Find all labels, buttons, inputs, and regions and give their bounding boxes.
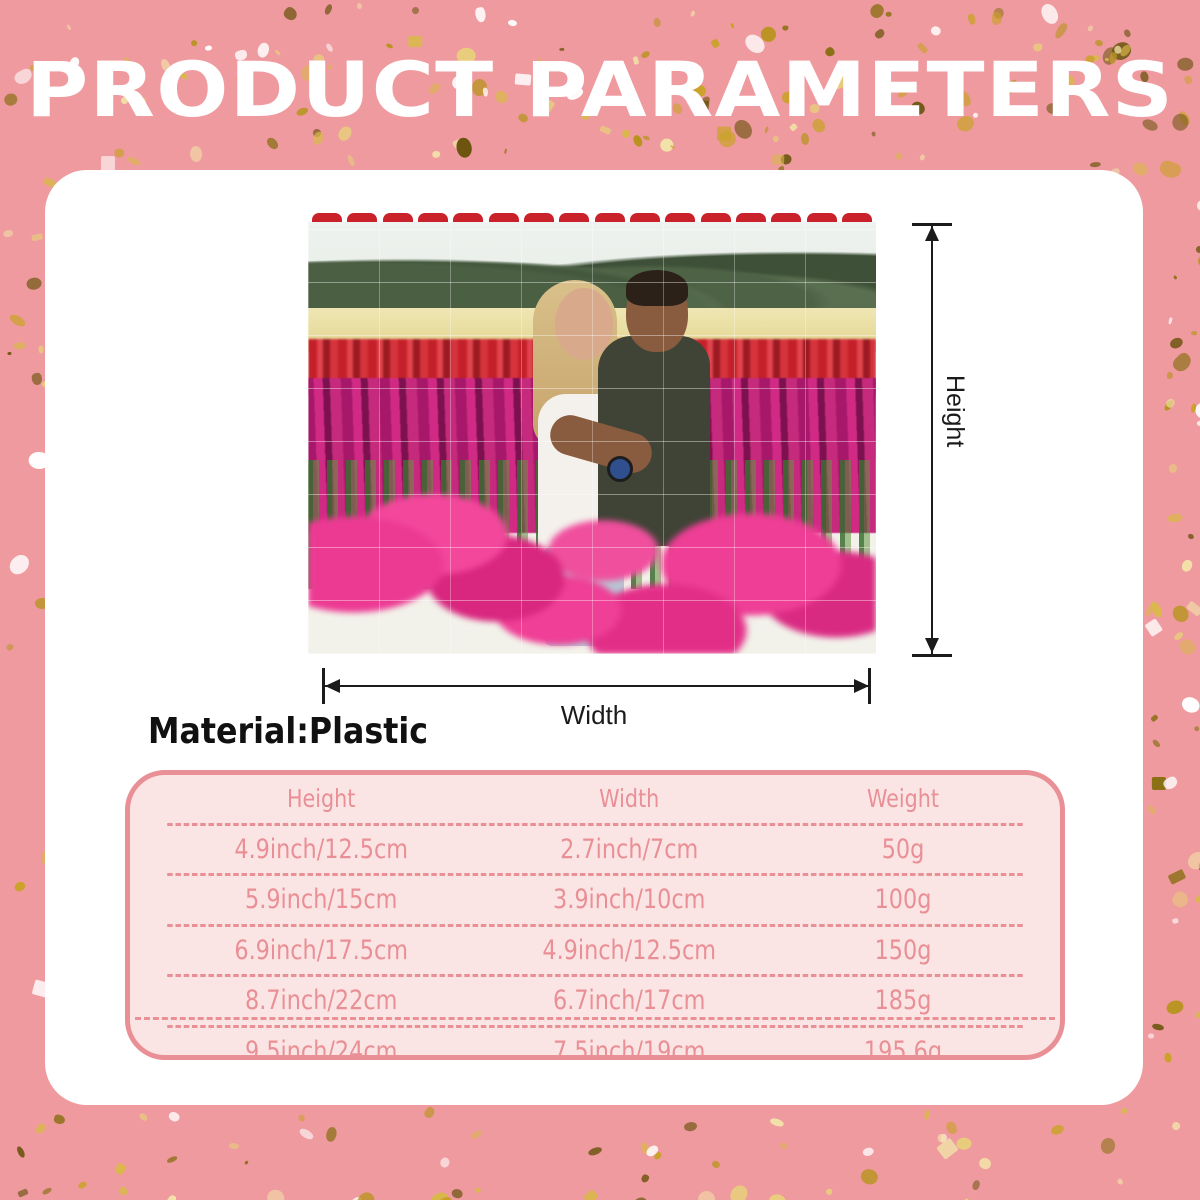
arrow-down-icon [925, 638, 939, 653]
confetti-flake [767, 1192, 788, 1200]
confetti-flake [17, 1188, 29, 1197]
table-cell: 195.6g [783, 1036, 1023, 1060]
confetti-flake [645, 1143, 661, 1158]
confetti-flake [1173, 918, 1180, 924]
confetti-flake [1117, 1179, 1124, 1186]
confetti-flake [923, 1109, 930, 1120]
confetti-flake [801, 133, 810, 146]
confetti-flake [1161, 775, 1179, 791]
confetti-flake [504, 149, 507, 154]
content-card: Height Width Material:Plastic HeightWidt… [45, 170, 1143, 1105]
confetti-flake [966, 13, 976, 26]
confetti-flake [862, 1147, 874, 1157]
confetti-flake [1049, 1123, 1064, 1136]
confetti-flake [772, 135, 779, 142]
confetti-flake [508, 20, 518, 27]
confetti-flake [243, 1160, 248, 1165]
confetti-flake [1164, 1052, 1173, 1063]
confetti-flake [640, 1173, 650, 1184]
height-dimension-line [931, 225, 933, 657]
table-cell: 8.7inch/22cm [167, 985, 475, 1016]
confetti-flake [653, 17, 661, 27]
confetti-flake [38, 345, 43, 353]
confetti-flake [977, 1156, 993, 1172]
confetti-flake [936, 1138, 958, 1160]
confetti-flake [778, 1141, 788, 1151]
confetti-flake [163, 1194, 178, 1200]
confetti-flake [628, 1194, 651, 1200]
confetti-flake [1166, 513, 1182, 523]
confetti-flake [349, 1195, 363, 1200]
product-parameters-infographic: PRODUCT PARAMETERS [0, 0, 1200, 1200]
material-label: Material:Plastic [148, 711, 428, 752]
confetti-flake [772, 155, 784, 166]
confetti-flake [1179, 695, 1200, 716]
photo-image [308, 222, 876, 654]
confetti-flake [1087, 25, 1095, 33]
confetti-flake [1099, 1136, 1116, 1154]
confetti-flake [423, 1105, 437, 1119]
confetti-flake [1165, 397, 1177, 409]
confetti-flake [3, 229, 14, 238]
confetti-flake [66, 24, 71, 31]
confetti-flake [53, 1114, 66, 1125]
confetti-flake [437, 1194, 455, 1200]
confetti-flake [1090, 161, 1101, 167]
arrow-up-icon [925, 226, 939, 241]
product-photo [308, 222, 876, 654]
confetti-flake [1152, 776, 1166, 789]
table-cell: 4.9inch/12.5cm [167, 834, 475, 865]
confetti-flake [13, 880, 27, 894]
confetti-flake [1170, 889, 1190, 909]
page-title: PRODUCT PARAMETERS [0, 52, 1200, 128]
confetti-flake [229, 1143, 239, 1150]
confetti-flake [859, 1167, 880, 1186]
confetti-flake [8, 312, 27, 329]
table-cell: 3.9inch/10cm [475, 884, 783, 915]
confetti-flake [670, 145, 675, 150]
confetti-flake [16, 1146, 26, 1159]
confetti-flake [1168, 335, 1184, 349]
confetti-flake [1169, 463, 1179, 473]
confetti-flake [730, 23, 734, 28]
confetti-flake [711, 1159, 721, 1169]
confetti-flake [265, 1187, 287, 1200]
confetti-flake [1151, 1023, 1164, 1032]
confetti-flake [1169, 602, 1191, 625]
confetti-flake [653, 1151, 663, 1161]
confetti-flake [583, 1189, 599, 1200]
confetti-flake [1163, 398, 1175, 411]
table-row: 6.9inch/17.5cm4.9inch/12.5cm150g [167, 924, 1023, 975]
confetti-flake [1193, 725, 1200, 732]
table-cell: 150g [783, 935, 1023, 966]
confetti-flake [1177, 637, 1198, 658]
confetti-flake [34, 1122, 47, 1136]
confetti-flake [944, 1120, 959, 1136]
confetti-flake [1152, 739, 1162, 749]
confetti-flake [1195, 245, 1200, 253]
confetti-flake [456, 136, 474, 158]
confetti-flake [1196, 253, 1200, 268]
confetti-flake [770, 1117, 786, 1128]
confetti-flake [691, 10, 697, 17]
confetti-flake [758, 24, 779, 45]
confetti-flake [114, 1162, 127, 1175]
confetti-flake [265, 136, 281, 152]
confetti-flake [474, 7, 487, 24]
table-header-cell: Width [475, 784, 783, 813]
table-cell: 185g [783, 985, 1023, 1016]
confetti-flake [325, 1126, 338, 1143]
confetti-flake [429, 1190, 451, 1200]
confetti-flake [992, 7, 1005, 20]
confetti-flake [1191, 331, 1197, 335]
confetti-flake [873, 28, 885, 40]
confetti-flake [14, 342, 26, 350]
confetti-flake [1196, 420, 1200, 427]
confetti-flake [956, 1138, 972, 1151]
table-cell: 100g [783, 884, 1023, 915]
confetti-flake [1184, 849, 1200, 873]
confetti-flake [452, 138, 464, 148]
table-cell: 6.7inch/17cm [475, 985, 783, 1016]
confetti-flake [1145, 604, 1153, 616]
confetti-flake [324, 3, 334, 15]
confetti-flake [119, 1186, 129, 1196]
confetti-flake [660, 138, 674, 151]
confetti-flake [5, 643, 14, 651]
confetti-flake [1148, 599, 1163, 618]
spec-table: HeightWidthWeight4.9inch/12.5cm2.7inch/7… [125, 770, 1065, 1060]
confetti-flake [780, 153, 793, 166]
confetti-flake [1180, 558, 1194, 573]
confetti-flake [727, 1182, 751, 1200]
confetti-flake [166, 1155, 178, 1164]
confetti-flake [1148, 1034, 1154, 1039]
table-row: 9.5inch/24cm7.5inch/19cm195.6g [167, 1025, 1023, 1061]
photo-foreground-flowers [308, 455, 876, 654]
confetti-flake [1170, 1120, 1181, 1132]
confetti-flake [7, 352, 12, 356]
confetti-flake [440, 1156, 452, 1168]
confetti-flake [167, 1110, 181, 1122]
table-cell: 9.5inch/24cm [167, 1036, 475, 1060]
confetti-flake [826, 1189, 832, 1195]
confetti-flake [991, 12, 1002, 26]
confetti-flake [1145, 619, 1163, 637]
confetti-flake [695, 1188, 717, 1200]
confetti-flake [868, 2, 886, 21]
confetti-flake [1187, 532, 1194, 539]
table-row: 4.9inch/12.5cm2.7inch/7cm50g [167, 823, 1023, 874]
confetti-flake [782, 25, 788, 30]
height-tick-bottom [912, 654, 952, 657]
confetti-flake [1038, 1, 1061, 26]
confetti-flake [683, 1122, 697, 1133]
table-cell: 2.7inch/7cm [475, 834, 783, 865]
confetti-flake [1186, 601, 1200, 617]
confetti-flake [25, 276, 42, 290]
table-cell: 6.9inch/17.5cm [167, 935, 475, 966]
arrow-left-icon [325, 679, 340, 693]
confetti-flake [298, 1126, 315, 1140]
confetti-flake [469, 1129, 483, 1140]
confetti-flake [32, 233, 44, 241]
confetti-flake [1168, 869, 1187, 885]
confetti-flake [1194, 1011, 1200, 1019]
confetti-flake [643, 134, 651, 140]
confetti-flake [1158, 159, 1183, 181]
confetti-flake [1168, 317, 1173, 324]
spec-table-bottom-rule [135, 1017, 1055, 1020]
confetti-flake [451, 1188, 464, 1199]
confetti-flake [1132, 161, 1150, 177]
table-cell: 4.9inch/12.5cm [475, 935, 783, 966]
confetti-flake [138, 1112, 149, 1122]
confetti-flake [1173, 275, 1178, 280]
confetti-flake [1147, 804, 1157, 815]
confetti-flake [1195, 402, 1200, 422]
confetti-flake [476, 1187, 481, 1193]
confetti-flake [639, 1141, 651, 1155]
table-row: 5.9inch/15cm3.9inch/10cm100g [167, 873, 1023, 924]
confetti-flake [297, 1114, 306, 1123]
confetti-flake [6, 551, 32, 577]
confetti-flake [971, 1179, 981, 1191]
confetti-flake [346, 154, 356, 167]
confetti-flake [1170, 351, 1193, 374]
confetti-flake [1165, 998, 1185, 1015]
table-header-cell: Weight [783, 784, 1023, 813]
confetti-flake [919, 154, 926, 162]
height-dimension-label: Height [940, 375, 969, 447]
confetti-flake [126, 155, 141, 166]
photo-man-hair [626, 270, 688, 306]
confetti-flake [895, 152, 904, 161]
confetti-flake [30, 373, 42, 387]
confetti-flake [1150, 714, 1158, 722]
confetti-flake [41, 1187, 52, 1196]
confetti-flake [410, 6, 419, 15]
table-cell: 50g [783, 834, 1023, 865]
confetti-flake [1053, 21, 1068, 39]
confetti-flake [1173, 630, 1184, 641]
confetti-flake [77, 1180, 88, 1190]
table-header-row: HeightWidthWeight [167, 775, 1023, 823]
confetti-flake [1122, 28, 1132, 38]
confetti-flake [633, 134, 645, 148]
confetti-flake [282, 5, 300, 23]
arrow-right-icon [854, 679, 869, 693]
confetti-flake [113, 148, 123, 158]
confetti-flake [940, 1134, 948, 1143]
confetti-flake [354, 1189, 377, 1200]
confetti-flake [929, 25, 942, 37]
confetti-flake [1190, 404, 1197, 414]
table-cell: 7.5inch/19cm [475, 1036, 783, 1060]
confetti-flake [356, 3, 361, 9]
confetti-flake [1166, 371, 1174, 379]
width-dimension-line [323, 685, 871, 687]
confetti-flake [1121, 1107, 1128, 1114]
confetti-flake [937, 1133, 948, 1144]
table-header-cell: Height [167, 784, 475, 813]
table-cell: 5.9inch/15cm [167, 884, 475, 915]
confetti-flake [189, 145, 202, 162]
confetti-flake [432, 150, 441, 158]
confetti-flake [886, 12, 892, 17]
confetti-flake [1194, 893, 1200, 903]
confetti-flake [587, 1146, 603, 1157]
